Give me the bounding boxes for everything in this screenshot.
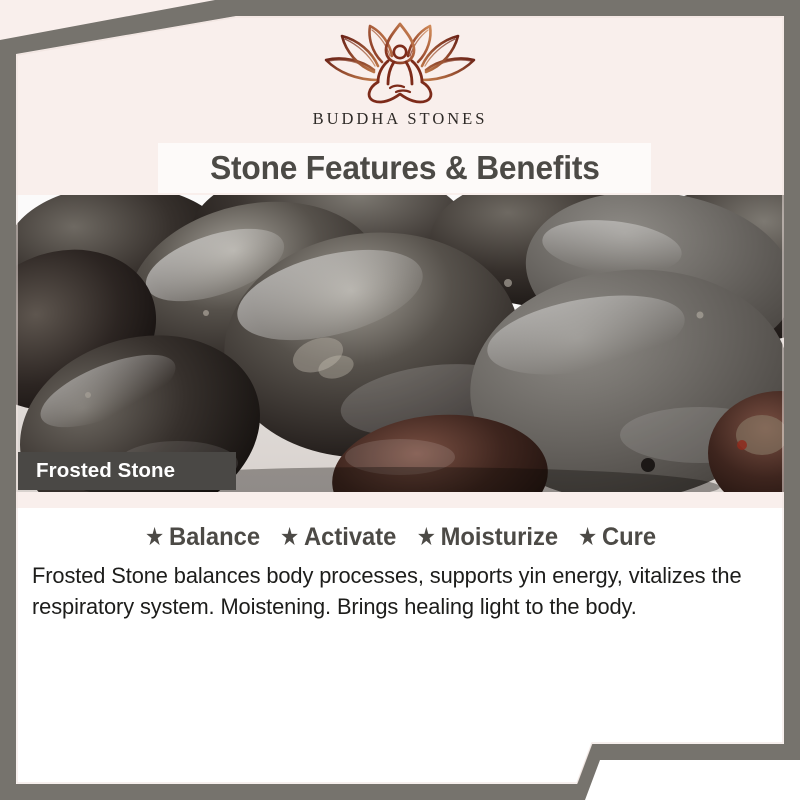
title-band: Stone Features & Benefits [158,143,651,193]
stone-description: Frosted Stone balances body processes, s… [32,560,750,622]
poster-content: ★ Balance ★ Activate ★ Moisturize ★ Cure… [0,508,800,800]
benefit-item: ★ Cure [578,523,656,552]
benefit-label: Cure [602,523,656,552]
benefit-label: Moisturize [441,523,558,552]
star-icon: ★ [578,525,597,550]
star-icon: ★ [280,525,299,550]
benefit-item: ★ Activate [280,523,396,552]
star-icon: ★ [145,525,164,550]
benefit-item: ★ Balance [145,523,260,552]
stone-photo-illustration [0,195,800,492]
benefit-item: ★ Moisturize [417,523,558,552]
photo-bottom-separator [0,492,800,508]
star-icon: ★ [417,525,436,550]
brand-logo-block: BUDDHA STONES [0,22,800,129]
brand-wordmark: BUDDHA STONES [313,109,488,129]
benefits-row: ★ Balance ★ Activate ★ Moisturize ★ Cure [0,523,800,552]
benefit-label: Activate [304,523,396,552]
photo-caption-bar: Frosted Stone [18,452,236,490]
benefit-label: Balance [169,523,260,552]
stone-features-poster: BUDDHA STONES Stone Features & Benefits [0,0,800,800]
lotus-meditation-logo-icon [316,22,484,104]
photo-caption-label: Frosted Stone [36,459,175,483]
page-title: Stone Features & Benefits [210,149,600,187]
stone-photo [0,195,800,492]
